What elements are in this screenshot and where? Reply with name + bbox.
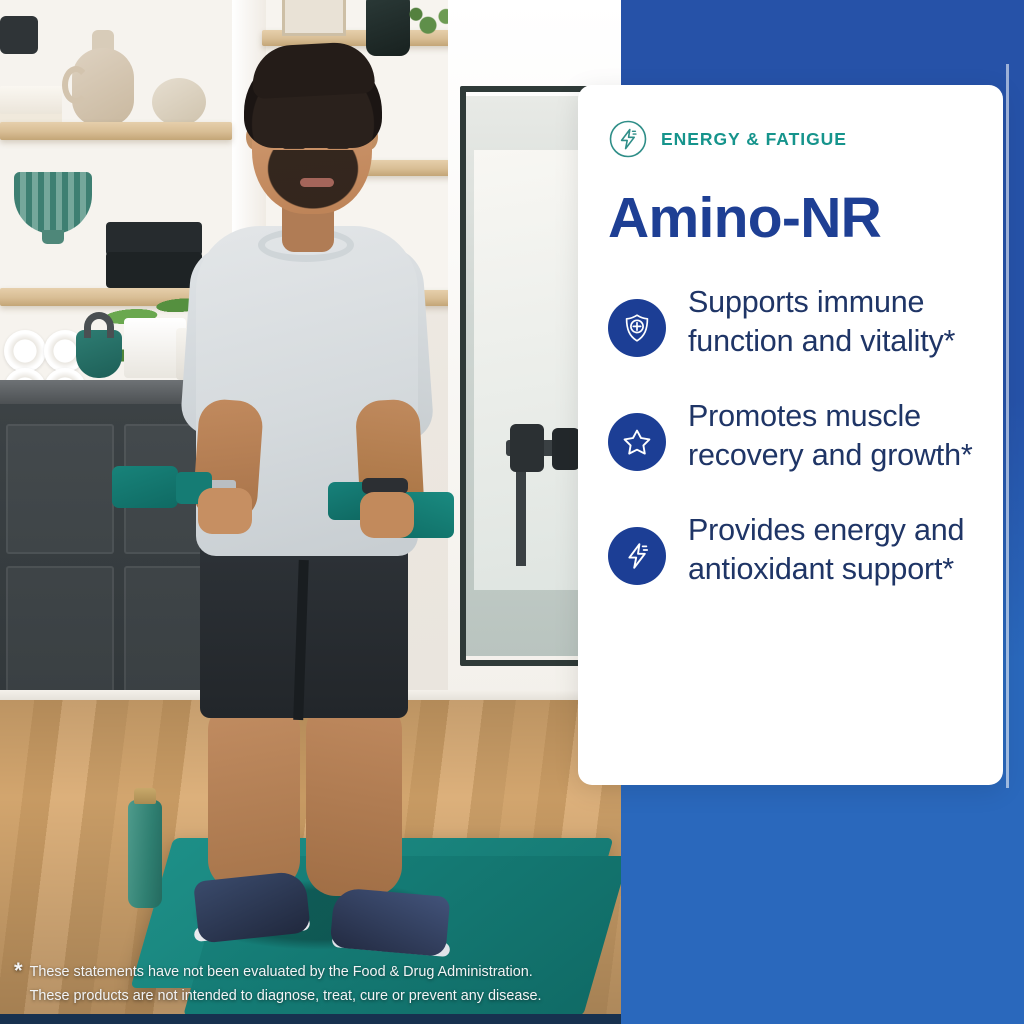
category-badge-label: ENERGY & FATIGUE bbox=[661, 129, 847, 150]
photo-person-leg bbox=[306, 700, 402, 896]
photo-rack-weight bbox=[510, 424, 544, 472]
benefit-text: Supports immune function and vitality* bbox=[688, 283, 979, 362]
photo-storage-box bbox=[106, 252, 202, 288]
photo-ceramic-jug bbox=[72, 48, 134, 126]
product-info-card: ENERGY & FATIGUE Amino-NR Supports immun… bbox=[578, 85, 1003, 785]
photo-bottle-cap bbox=[134, 788, 156, 804]
photo-rolled-towel bbox=[4, 330, 46, 372]
category-badge: ENERGY & FATIGUE bbox=[608, 119, 979, 159]
photo-round-vase bbox=[152, 78, 206, 126]
photo-sneaker bbox=[330, 887, 451, 957]
benefits-list: Supports immune function and vitality* P… bbox=[608, 283, 979, 589]
benefit-item: Promotes muscle recovery and growth* bbox=[608, 397, 979, 476]
fda-disclaimer: * These statements have not been evaluat… bbox=[14, 959, 614, 1008]
photo-person-hand bbox=[360, 492, 414, 538]
photo-picture-frame bbox=[282, 0, 346, 36]
photo-weight-rack-leg bbox=[516, 456, 526, 566]
photo-person-hand bbox=[198, 488, 252, 534]
disclaimer-text: These statements have not been evaluated… bbox=[30, 959, 542, 1008]
photo-person-leg bbox=[208, 700, 300, 890]
lightning-bolt-icon bbox=[608, 527, 666, 585]
product-title: Amino-NR bbox=[608, 189, 979, 247]
card-edge-highlight bbox=[1006, 64, 1009, 788]
photo-dumbbell bbox=[112, 466, 178, 508]
disclaimer-line-1: These statements have not been evaluated… bbox=[30, 964, 533, 980]
photo-sneaker bbox=[193, 870, 311, 943]
benefit-text: Provides energy and antioxidant support* bbox=[688, 511, 979, 590]
photo-books bbox=[0, 86, 62, 124]
photo-dark-box bbox=[0, 16, 38, 54]
disclaimer-line-2: These products are not intended to diagn… bbox=[30, 988, 542, 1004]
photo-kettlebell-handle bbox=[84, 312, 114, 338]
star-icon bbox=[608, 413, 666, 471]
lifestyle-photo: * These statements have not been evaluat… bbox=[0, 0, 621, 1024]
shield-plus-icon bbox=[608, 299, 666, 357]
lightning-bolt-circle-icon bbox=[608, 119, 648, 159]
benefit-text: Promotes muscle recovery and growth* bbox=[688, 397, 979, 476]
photo-shelf bbox=[0, 122, 232, 140]
photo-water-bottle bbox=[128, 800, 162, 908]
photo-rack-weight bbox=[552, 428, 580, 470]
disclaimer-asterisk: * bbox=[14, 959, 23, 982]
photo-bowl-base bbox=[42, 230, 64, 244]
benefit-item: Provides energy and antioxidant support* bbox=[608, 511, 979, 590]
promo-graphic: * These statements have not been evaluat… bbox=[0, 0, 1024, 1024]
photo-bottom-strip bbox=[0, 1014, 621, 1024]
photo-person-mouth bbox=[300, 178, 334, 187]
benefit-item: Supports immune function and vitality* bbox=[608, 283, 979, 362]
photo-storage-box bbox=[106, 222, 202, 256]
photo-cabinet-door bbox=[6, 424, 114, 554]
